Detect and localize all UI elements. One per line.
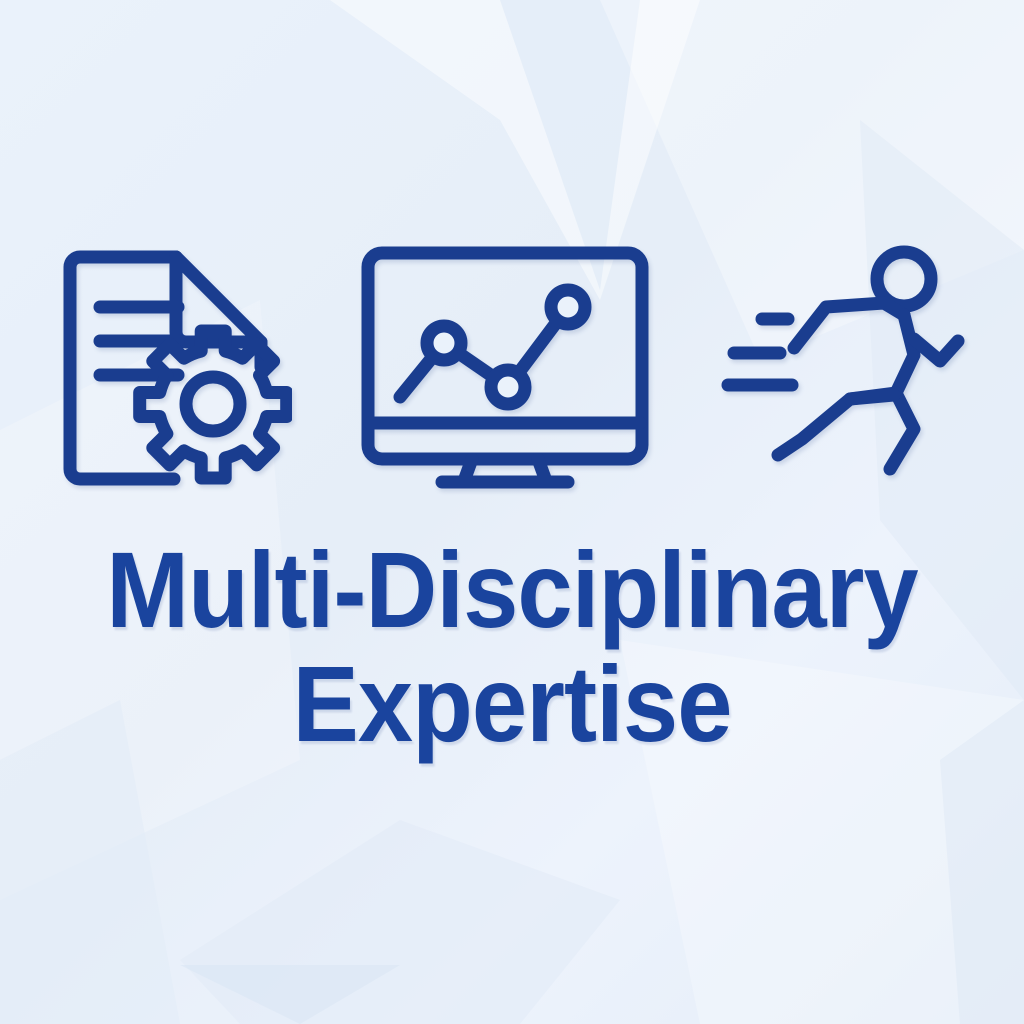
runner-front-arm [914,339,958,361]
page-title: Multi-Disciplinary Expertise [0,536,1024,758]
icon-slot-running-person [718,243,968,493]
promo-card: Multi-Disciplinary Expertise [0,0,1024,1024]
runner-thigh-link [850,395,894,399]
icon-row [0,236,1024,500]
runner-back-arm [794,303,904,348]
document-gear-icon [56,243,292,493]
runner-torso [896,315,914,393]
icon-slot-monitor-chart [360,245,650,491]
headline-line-1: Multi-Disciplinary [41,536,983,644]
background-gradient [0,0,1024,1024]
monitor-chart-icon [360,245,650,491]
icon-slot-document-gear [56,243,292,493]
running-person-icon [718,243,968,493]
headline-line-2: Expertise [41,650,983,758]
chart-markers [427,290,585,404]
runner-front-leg [890,393,914,469]
